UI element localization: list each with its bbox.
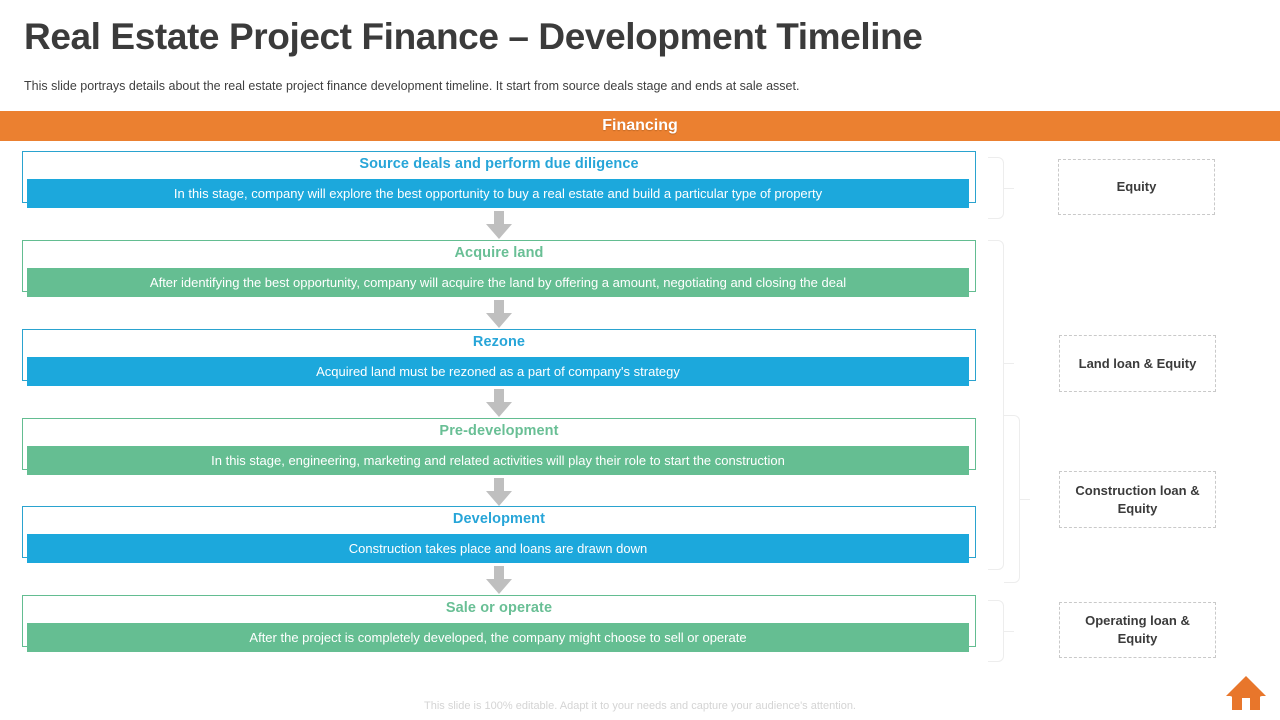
bracket-equity — [988, 157, 1004, 219]
stage-title: Source deals and perform due diligence — [22, 156, 976, 172]
footer-note: This slide is 100% editable. Adapt it to… — [0, 700, 1280, 712]
arrow-down-icon — [486, 478, 512, 506]
financing-box-equity[interactable]: Equity — [1058, 159, 1215, 215]
stage-description: After the project is completely develope… — [27, 623, 969, 652]
financing-box-land-loan[interactable]: Land loan & Equity — [1059, 335, 1216, 392]
financing-banner: Financing — [0, 111, 1280, 141]
stage-item[interactable]: Pre-development In this stage, engineeri… — [22, 418, 976, 476]
stage-item[interactable]: Development Construction takes place and… — [22, 506, 976, 564]
bracket-operating-loan — [988, 600, 1004, 662]
stage-item[interactable]: Rezone Acquired land must be rezoned as … — [22, 329, 976, 387]
bracket-land-loan — [988, 240, 1004, 570]
stage-title: Pre-development — [22, 423, 976, 439]
stage-title: Development — [22, 511, 976, 527]
arrow-down-icon — [486, 300, 512, 328]
stage-title: Rezone — [22, 334, 976, 350]
stage-description: Acquired land must be rezoned as a part … — [27, 357, 969, 386]
arrow-down-icon — [486, 211, 512, 239]
financing-banner-label: Financing — [0, 111, 1280, 141]
arrow-down-icon — [486, 389, 512, 417]
stage-item[interactable]: Sale or operate After the project is com… — [22, 595, 976, 653]
arrow-down-icon — [486, 566, 512, 594]
stage-description: In this stage, company will explore the … — [27, 179, 969, 208]
stage-title: Acquire land — [22, 245, 976, 261]
bracket-construction-loan — [1004, 415, 1020, 583]
financing-box-construction-loan[interactable]: Construction loan & Equity — [1059, 471, 1216, 528]
stage-description: In this stage, engineering, marketing an… — [27, 446, 969, 475]
stage-description: After identifying the best opportunity, … — [27, 268, 969, 297]
stage-item[interactable]: Source deals and perform due diligence I… — [22, 151, 976, 209]
stage-item[interactable]: Acquire land After identifying the best … — [22, 240, 976, 298]
page-title: Real Estate Project Finance – Developmen… — [24, 16, 922, 58]
financing-box-operating-loan[interactable]: Operating loan & Equity — [1059, 602, 1216, 658]
stage-timeline: Source deals and perform due diligence I… — [0, 141, 1010, 676]
home-icon — [1224, 672, 1268, 712]
stage-title: Sale or operate — [22, 600, 976, 616]
page-subtitle: This slide portrays details about the re… — [24, 79, 799, 93]
stage-description: Construction takes place and loans are d… — [27, 534, 969, 563]
slide-root: Real Estate Project Finance – Developmen… — [0, 0, 1280, 720]
